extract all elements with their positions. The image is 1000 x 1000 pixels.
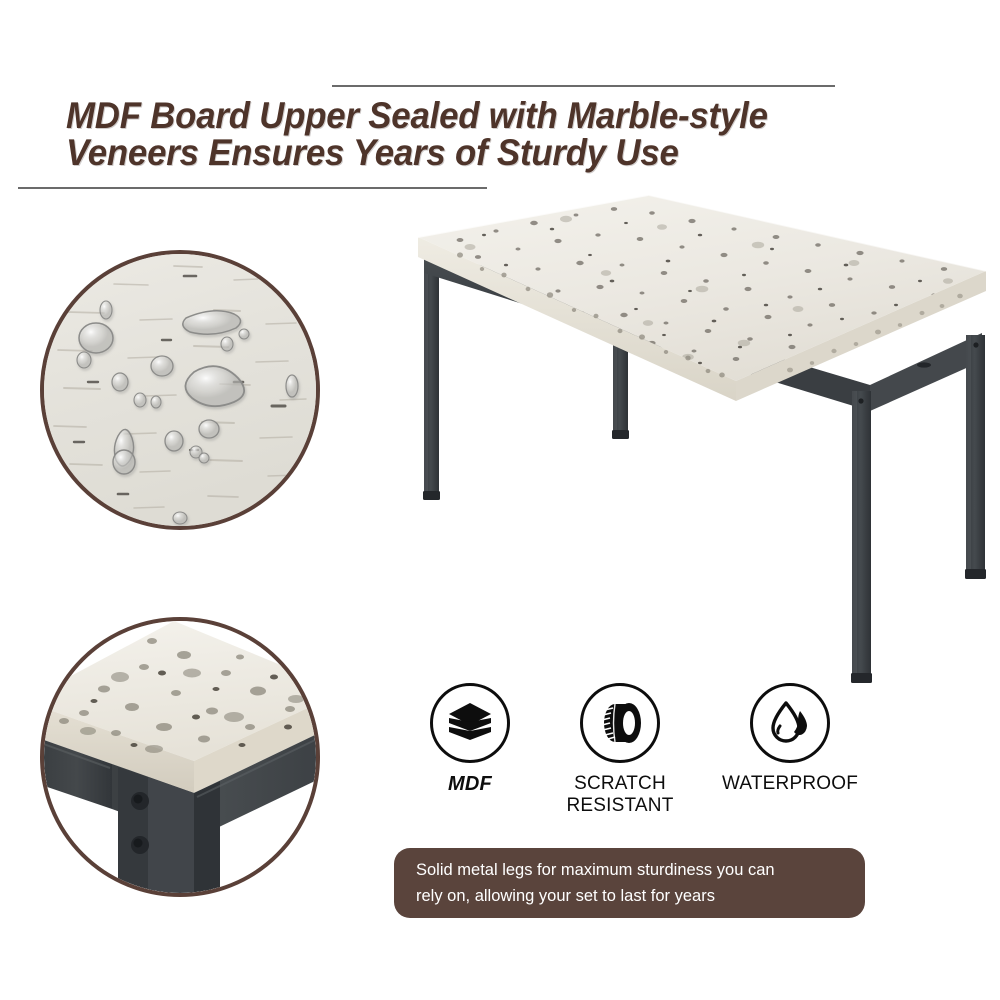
feature-label: MDF [390,773,550,795]
top-divider-rule [332,85,835,87]
layers-icon [446,700,494,746]
feature-icon-ring [580,683,660,763]
caption-box: Solid metal legs for maximum sturdiness … [394,848,865,918]
water-beading-image [44,254,316,526]
table-illustration [400,185,1000,695]
feature-icon-ring [430,683,510,763]
feature-waterproof: WATERPROOF [710,683,870,795]
feature-scratch-resistant: SCRATCH RESISTANT [540,683,700,817]
feature-badges: MDF [395,683,865,823]
corner-joint-detail [40,617,320,897]
apron-rail-right [870,333,982,411]
table-leg-front-right [965,335,986,579]
feature-mdf: MDF [390,683,550,795]
marketing-image: MDF Board Upper Sealed with Marble-style… [0,0,1000,1000]
water-drop-icon [765,699,815,747]
feature-icon-ring [750,683,830,763]
table-leg-back-left [423,247,440,500]
corner-joint-image [44,621,316,893]
feature-label: WATERPROOF [710,773,870,795]
terrazzo-top-metal-frame-table [400,185,1000,695]
tire-tread-icon [595,699,645,747]
feature-label: SCRATCH RESISTANT [540,773,700,817]
page-title: MDF Board Upper Sealed with Marble-style… [66,97,874,171]
water-beading-detail [40,250,320,530]
table-leg-front-left [851,391,872,683]
